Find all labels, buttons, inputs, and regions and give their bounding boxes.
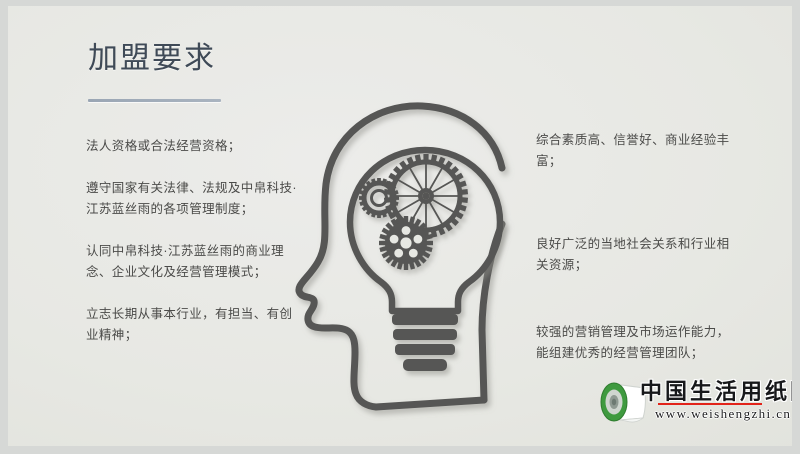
title-underline-rule <box>88 99 221 102</box>
watermark-red-rule <box>658 403 762 405</box>
slide-canvas: 加盟要求 <box>8 6 792 446</box>
requirement-item: 较强的营销管理及市场运作能力，能组建优秀的经营管理团队； <box>536 322 736 364</box>
requirements-left-column: 法人资格或合法经营资格； 遵守国家有关法律、法规及中帛科技·江苏蓝丝雨的各项管理… <box>86 136 301 367</box>
requirement-item: 综合素质高、信誉好、商业经验丰富； <box>536 130 736 172</box>
requirement-item: 良好广泛的当地社会关系和行业相关资源； <box>536 234 736 276</box>
page-title: 加盟要求 <box>88 42 221 77</box>
head-lightbulb-gears-illustration <box>270 84 540 434</box>
requirement-item: 法人资格或合法经营资格； <box>86 136 301 157</box>
site-watermark: 中国生活用纸网 www.weishengzhi.cn <box>596 366 792 444</box>
requirement-item: 立志长期从事本行业，有担当、有创业精神； <box>86 304 301 346</box>
requirement-item: 认同中帛科技·江苏蓝丝雨的商业理念、企业文化及经营管理模式； <box>86 241 301 283</box>
watermark-site-name: 中国生活用纸网 <box>640 374 792 406</box>
slide-frame: 加盟要求 <box>0 0 800 454</box>
requirements-right-column: 综合素质高、信誉好、商业经验丰富； 良好广泛的当地社会关系和行业相关资源； 较强… <box>536 130 736 364</box>
requirement-item: 遵守国家有关法律、法规及中帛科技·江苏蓝丝雨的各项管理制度； <box>86 178 301 220</box>
watermark-url: www.weishengzhi.cn <box>655 406 791 422</box>
title-block: 加盟要求 <box>88 42 221 102</box>
